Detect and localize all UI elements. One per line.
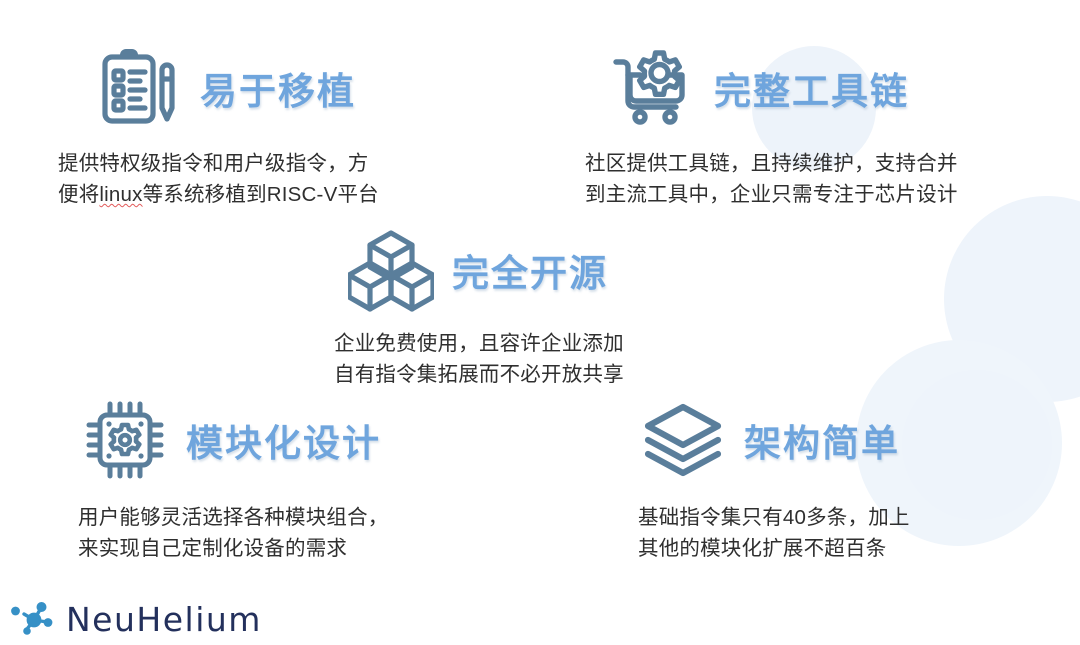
feature-description-line2-suffix: 等系统移植到RISC-V平台	[143, 183, 379, 206]
shopping-cart-gear-icon	[610, 45, 696, 131]
stacked-cubes-icon	[348, 227, 434, 313]
slide-canvas: 易于移植 提供特权级指令和用户级指令，方便将linux等系统移植到RISC-V平…	[0, 0, 1080, 645]
feature-description-line2-latin: linux	[99, 183, 142, 206]
feature-description-line2-prefix: 便将	[58, 183, 99, 206]
feature-header: 架构简单	[640, 392, 910, 488]
feature-header: 完全开源	[348, 222, 624, 318]
background-blob-bottom-right	[902, 370, 1052, 520]
feature-description: 基础指令集只有40多条，加上 其他的模块化扩展不超百条	[638, 502, 910, 564]
cpu-chip-gear-icon	[82, 397, 168, 483]
feature-header: 易于移植	[96, 40, 379, 136]
stacked-layers-icon	[640, 397, 726, 483]
clipboard-checklist-pencil-icon	[96, 45, 182, 131]
feature-description: 企业免费使用，且容许企业添加 自有指令集拓展而不必开放共享	[334, 328, 624, 390]
feature-description: 提供特权级指令和用户级指令，方便将linux等系统移植到RISC-V平台	[58, 148, 379, 210]
feature-title: 易于移植	[200, 61, 356, 115]
molecule-node-icon	[10, 598, 58, 640]
feature-portability: 易于移植 提供特权级指令和用户级指令，方便将linux等系统移植到RISC-V平…	[96, 40, 379, 210]
feature-description-line1: 提供特权级指令和用户级指令，方	[58, 152, 369, 175]
background-blob-right-upper	[944, 196, 1080, 402]
brand-logo: NeuHelium	[10, 598, 262, 640]
feature-header: 完整工具链	[610, 40, 958, 136]
feature-opensource: 完全开源 企业免费使用，且容许企业添加 自有指令集拓展而不必开放共享	[348, 222, 624, 390]
feature-title: 架构简单	[744, 413, 900, 467]
feature-simple: 架构简单 基础指令集只有40多条，加上 其他的模块化扩展不超百条	[640, 392, 910, 564]
feature-title: 完全开源	[452, 243, 608, 297]
feature-title: 完整工具链	[714, 61, 909, 115]
feature-toolchain: 完整工具链 社区提供工具链，且持续维护，支持合并 到主流工具中，企业只需专注于芯…	[610, 40, 958, 210]
feature-modular: 模块化设计 用户能够灵活选择各种模块组合， 来实现自己定制化设备的需求	[82, 392, 389, 564]
feature-title: 模块化设计	[186, 413, 381, 467]
brand-name: NeuHelium	[66, 600, 262, 639]
feature-description: 用户能够灵活选择各种模块组合， 来实现自己定制化设备的需求	[78, 502, 389, 564]
feature-header: 模块化设计	[82, 392, 389, 488]
feature-description: 社区提供工具链，且持续维护，支持合并 到主流工具中，企业只需专注于芯片设计	[585, 148, 958, 210]
